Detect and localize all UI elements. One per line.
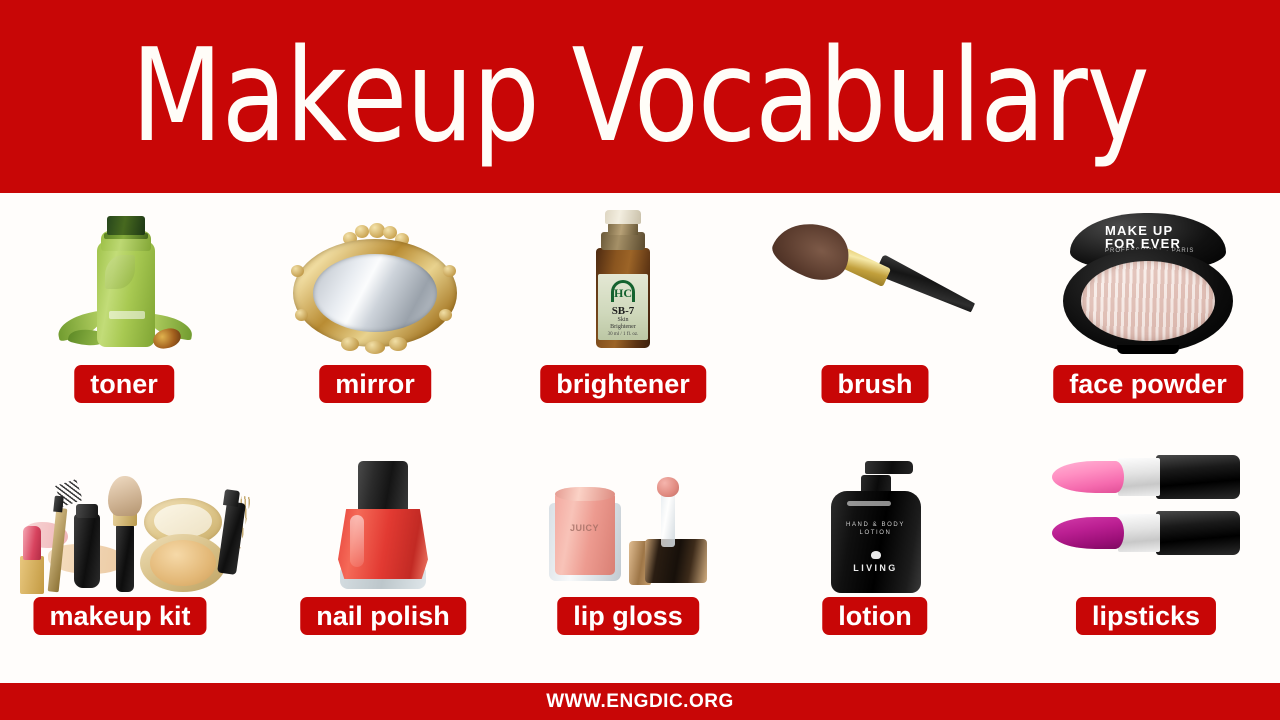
brightener-volume-text: 30 ml / 1 fl. oz. <box>598 332 648 337</box>
vocab-item-makeup-kit[interactable]: makeup kit <box>8 433 232 678</box>
lotion-type-text: HAND & BODYLOTION <box>831 521 921 537</box>
vocab-label-lipsticks: lipsticks <box>1076 597 1216 635</box>
vocab-label-lip-gloss: lip gloss <box>557 597 699 635</box>
lotion-art: HAND & BODYLOTION LIVING <box>764 437 986 597</box>
vocab-label-brightener: brightener <box>540 365 706 403</box>
vocab-item-brush[interactable]: brush <box>762 193 988 438</box>
brightener-subtitle-text: SkinBrightener <box>598 317 648 331</box>
vocab-item-lip-gloss[interactable]: JUICY lip gloss <box>516 433 740 678</box>
brush-art <box>762 197 988 357</box>
footer-banner: WWW.ENGDIC.ORG <box>0 683 1280 720</box>
vocab-label-toner: toner <box>74 365 174 403</box>
vocab-item-lotion[interactable]: HAND & BODYLOTION LIVING lotion <box>764 433 986 678</box>
vocab-item-brightener[interactable]: HC SB-7 SkinBrightener 30 ml / 1 fl. oz.… <box>510 193 736 438</box>
powder-brand-line1: MAKE UPFOR EVER <box>1105 224 1201 250</box>
lotion-brand-text: LIVING <box>831 563 921 573</box>
brightener-code-text: SB-7 <box>598 305 648 317</box>
vocabulary-grid: toner mirror <box>0 193 1280 683</box>
brightener-logo-text: HC <box>613 286 633 301</box>
face-powder-art: MAKE UPFOR EVER PROFESSIONAL · PARIS <box>1026 197 1270 357</box>
vocab-item-face-powder[interactable]: MAKE UPFOR EVER PROFESSIONAL · PARIS fac… <box>1026 193 1270 438</box>
brightener-art: HC SB-7 SkinBrightener 30 ml / 1 fl. oz. <box>510 197 736 357</box>
page-title: Makeup Vocabulary <box>131 33 1148 161</box>
toner-bottle-icon <box>49 207 199 357</box>
toner-art <box>10 197 238 357</box>
vocab-item-lipsticks[interactable]: lipsticks <box>1022 433 1270 678</box>
brightener-bottle-icon: HC SB-7 SkinBrightener 30 ml / 1 fl. oz. <box>563 202 683 357</box>
vocab-label-mirror: mirror <box>319 365 431 403</box>
makeup-kit-art <box>8 437 232 597</box>
lip-gloss-icon: JUICY <box>541 447 716 597</box>
website-url: WWW.ENGDIC.ORG <box>546 691 733 713</box>
vocab-label-lotion: lotion <box>822 597 927 635</box>
vocab-label-nail-polish: nail polish <box>300 597 466 635</box>
vocab-item-mirror[interactable]: mirror <box>262 193 488 438</box>
hand-mirror-icon <box>285 217 465 357</box>
lip-gloss-art: JUICY <box>516 437 740 597</box>
lotion-pump-bottle-icon: HAND & BODYLOTION LIVING <box>813 447 938 597</box>
vocab-item-toner[interactable]: toner <box>10 193 238 438</box>
makeup-kit-icon <box>8 452 232 597</box>
makeup-brush-icon <box>762 207 988 357</box>
nail-polish-art <box>268 437 498 597</box>
lipstick-icon <box>1046 447 1246 597</box>
gloss-pot-brand-text: JUICY <box>565 523 605 533</box>
vocab-label-brush: brush <box>821 365 928 403</box>
vocab-item-nail-polish[interactable]: nail polish <box>268 433 498 678</box>
vocab-label-face-powder: face powder <box>1053 365 1243 403</box>
header-banner: Makeup Vocabulary <box>0 0 1280 193</box>
vocabulary-row: makeup kit nail polish JUIC <box>0 433 1280 678</box>
vocabulary-row: toner mirror <box>0 193 1280 438</box>
mirror-art <box>262 197 488 357</box>
vocab-label-makeup-kit: makeup kit <box>33 597 206 635</box>
lipsticks-art <box>1022 437 1270 597</box>
powder-compact-icon: MAKE UPFOR EVER PROFESSIONAL · PARIS <box>1053 207 1243 357</box>
nail-polish-bottle-icon <box>318 447 448 597</box>
